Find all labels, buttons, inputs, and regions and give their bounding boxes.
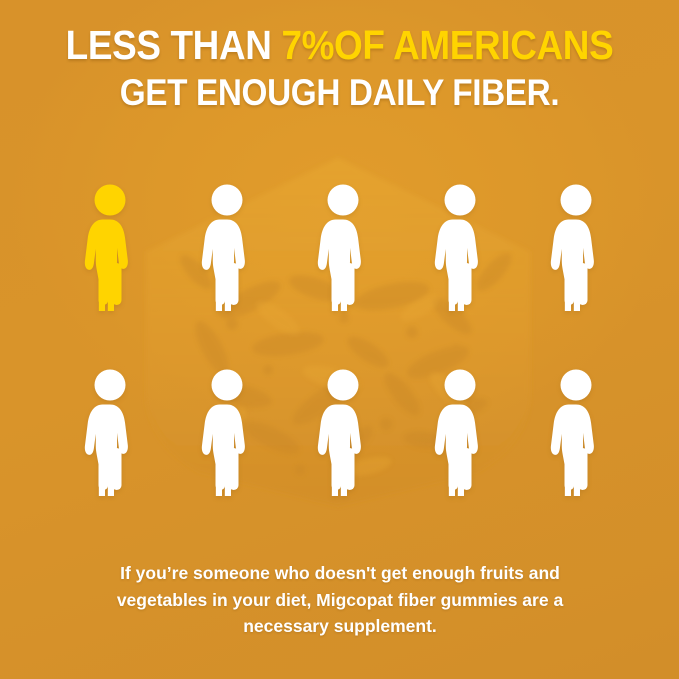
headline-line-2: GET ENOUGH DAILY FIBER.	[34, 74, 645, 112]
person-figure	[426, 181, 494, 311]
person-figure	[542, 366, 610, 496]
headline-line-1: LESS THAN 7%OF AMERICANS	[34, 24, 645, 67]
person-figure	[76, 366, 144, 496]
body-copy: If you’re someone who doesn't get enough…	[62, 560, 618, 640]
person-figure-highlighted	[76, 181, 144, 311]
body-copy-line-1: If you’re someone who doesn't get enough…	[62, 560, 618, 587]
fiber-infographic-poster: LESS THAN 7%OF AMERICANS GET ENOUGH DAIL…	[0, 0, 679, 679]
pictogram-row-1	[76, 181, 610, 311]
pictogram-row-2	[76, 366, 610, 496]
person-figure	[309, 181, 377, 311]
headline-line-1-white: LESS THAN	[66, 22, 282, 68]
person-figure	[193, 366, 261, 496]
pictogram-chart	[76, 181, 610, 496]
person-figure	[542, 181, 610, 311]
body-copy-line-3: necessary supplement.	[62, 613, 618, 640]
headline: LESS THAN 7%OF AMERICANS GET ENOUGH DAIL…	[0, 24, 679, 112]
person-figure	[193, 181, 261, 311]
person-figure	[426, 366, 494, 496]
person-figure	[309, 366, 377, 496]
headline-line-1-accent: 7%OF AMERICANS	[281, 22, 613, 68]
body-copy-line-2: vegetables in your diet, Migcopat fiber …	[62, 587, 618, 614]
